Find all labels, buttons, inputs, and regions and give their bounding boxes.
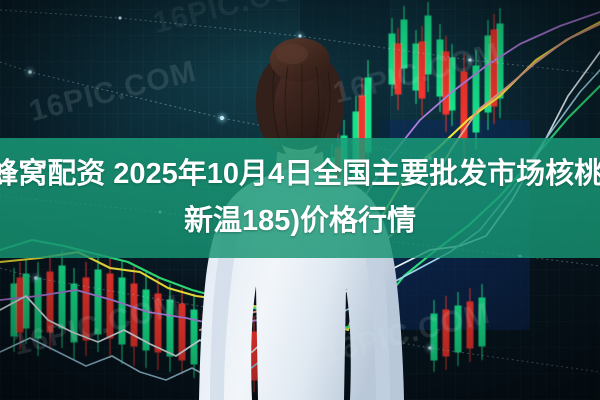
page-title: 蜂窝配资 2025年10月4日全国主要批发市场核桃( 新温185)价格行情 [0, 138, 600, 258]
title-line-2: 新温185)价格行情 [184, 198, 416, 245]
screenshot-root: 16PIC.COM 16PIC.COM 16PIC.COM [0, 0, 600, 400]
title-line-1: 蜂窝配资 2025年10月4日全国主要批发市场核桃( [0, 151, 600, 198]
